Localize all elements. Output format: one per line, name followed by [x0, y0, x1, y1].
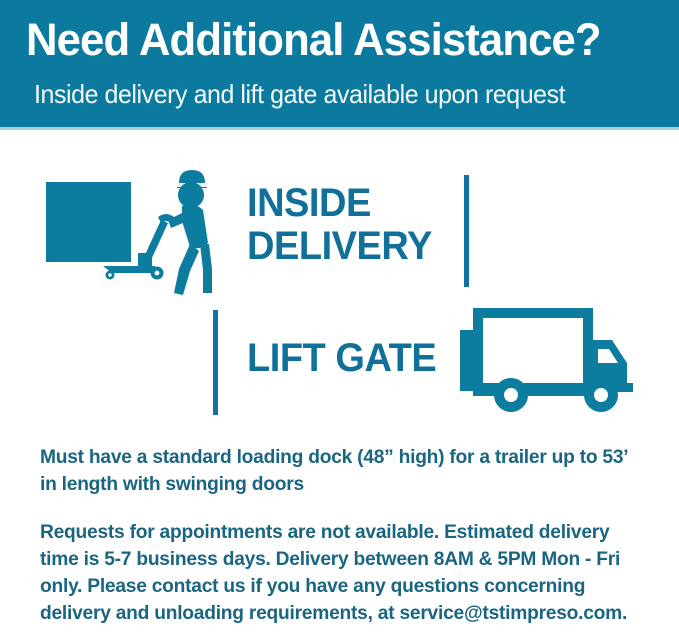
- divider-lift-gate: [213, 310, 218, 415]
- detail-paragraph-dock-requirements: Must have a standard loading dock (48” h…: [40, 444, 631, 498]
- box-truck-lift-gate-icon: [455, 297, 655, 417]
- page-title: Need Additional Assistance?: [26, 14, 647, 66]
- service-label-inside-delivery: INSIDE DELIVERY: [247, 182, 432, 268]
- service-label-lift-gate: LIFT GATE: [247, 337, 436, 380]
- detail-paragraph-scheduling-contact: Requests for appointments are not availa…: [40, 519, 631, 627]
- delivery-details: Must have a standard loading dock (48” h…: [40, 444, 640, 627]
- page-subtitle: Inside delivery and lift gate available …: [34, 78, 639, 110]
- worker-pallet-jack-icon: [40, 165, 240, 305]
- assistance-infographic: Need Additional Assistance? Inside deliv…: [0, 0, 679, 642]
- header-banner: Need Additional Assistance? Inside deliv…: [0, 0, 679, 127]
- divider-inside-delivery: [464, 175, 469, 287]
- services-section: INSIDE DELIVERY LIFT GATE: [0, 130, 679, 430]
